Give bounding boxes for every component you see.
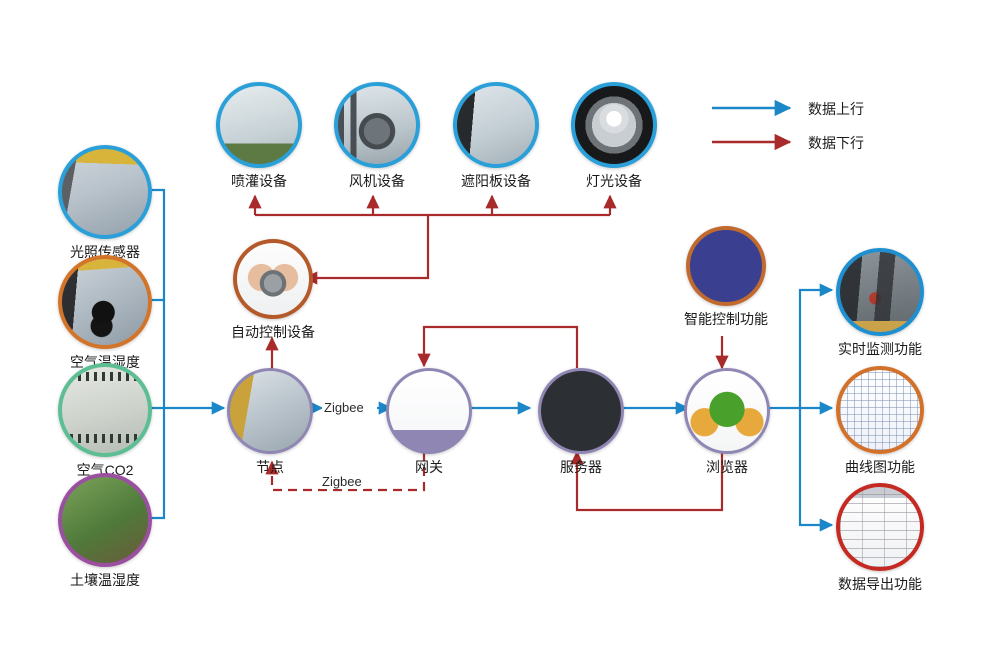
chain-node[interactable]: 节点 — [227, 368, 313, 454]
chain-node-label: 节点 — [256, 459, 284, 475]
device-sprinkler[interactable]: 喷灌设备 — [216, 82, 302, 168]
controller-auto-device[interactable]: 自动控制设备 — [233, 239, 313, 319]
zigbee-uplink-label: Zigbee — [322, 400, 366, 415]
controller-smart-function[interactable]: 智能控制功能 — [686, 226, 766, 306]
controller-auto-photo — [233, 239, 313, 319]
sensor-air-temp-humidity[interactable]: 空气温湿度 — [58, 255, 152, 349]
legend-item-downlink: 数据下行 — [808, 133, 864, 153]
legend-label-downlink: 数据下行 — [808, 135, 864, 151]
diagram-canvas: 数据上行 数据下行 光照传感器 空气温湿度 空气CO2 土壤温湿度 喷灌设备 风… — [0, 0, 1000, 656]
chain-server[interactable]: 服务器 — [538, 368, 624, 454]
controller-smart-label: 智能控制功能 — [684, 311, 768, 327]
sensor-light-photo — [58, 145, 152, 239]
sensor-co2[interactable]: 空气CO2 — [58, 363, 152, 457]
chain-gateway-photo — [386, 368, 472, 454]
function-curve-label: 曲线图功能 — [845, 459, 915, 475]
function-monitor-label: 实时监测功能 — [838, 341, 922, 357]
sensor-soil-photo — [58, 473, 152, 567]
function-curve-chart[interactable]: 曲线图功能 — [836, 366, 924, 454]
wire-browser-to-export — [800, 408, 832, 525]
function-data-export[interactable]: 数据导出功能 — [836, 483, 924, 571]
function-curve-photo — [836, 366, 924, 454]
function-export-label: 数据导出功能 — [838, 576, 922, 592]
legend-item-uplink: 数据上行 — [808, 99, 864, 119]
chain-server-photo — [538, 368, 624, 454]
zigbee-downlink-label: Zigbee — [320, 474, 364, 489]
downlink-wires — [255, 196, 722, 510]
legend-label-uplink: 数据上行 — [808, 101, 864, 117]
device-lighting-photo — [571, 82, 657, 168]
device-fan-label: 风机设备 — [349, 173, 405, 189]
device-sprinkler-photo — [216, 82, 302, 168]
chain-gateway-label: 网关 — [415, 459, 443, 475]
sensor-light[interactable]: 光照传感器 — [58, 145, 152, 239]
device-sunshade[interactable]: 遮阳板设备 — [453, 82, 539, 168]
sensor-co2-photo — [58, 363, 152, 457]
wire-server-to-gateway — [424, 327, 577, 368]
sensor-air-photo — [58, 255, 152, 349]
chain-gateway[interactable]: 网关 — [386, 368, 472, 454]
device-fan-photo — [334, 82, 420, 168]
device-sprinkler-label: 喷灌设备 — [231, 173, 287, 189]
device-sunshade-label: 遮阳板设备 — [461, 173, 531, 189]
wire-auto-to-bus — [305, 215, 428, 278]
chain-server-label: 服务器 — [560, 459, 602, 475]
function-export-photo — [836, 483, 924, 571]
device-sunshade-photo — [453, 82, 539, 168]
controller-smart-photo — [686, 226, 766, 306]
sensor-soil[interactable]: 土壤温湿度 — [58, 473, 152, 567]
chain-browser[interactable]: 浏览器 — [684, 368, 770, 454]
device-lighting[interactable]: 灯光设备 — [571, 82, 657, 168]
function-monitor-photo — [836, 248, 924, 336]
chain-browser-photo — [684, 368, 770, 454]
sensor-soil-label: 土壤温湿度 — [70, 572, 140, 588]
function-realtime-monitor[interactable]: 实时监测功能 — [836, 248, 924, 336]
device-lighting-label: 灯光设备 — [586, 173, 642, 189]
controller-auto-label: 自动控制设备 — [231, 324, 315, 340]
device-fan[interactable]: 风机设备 — [334, 82, 420, 168]
chain-node-photo — [227, 368, 313, 454]
chain-browser-label: 浏览器 — [706, 459, 748, 475]
